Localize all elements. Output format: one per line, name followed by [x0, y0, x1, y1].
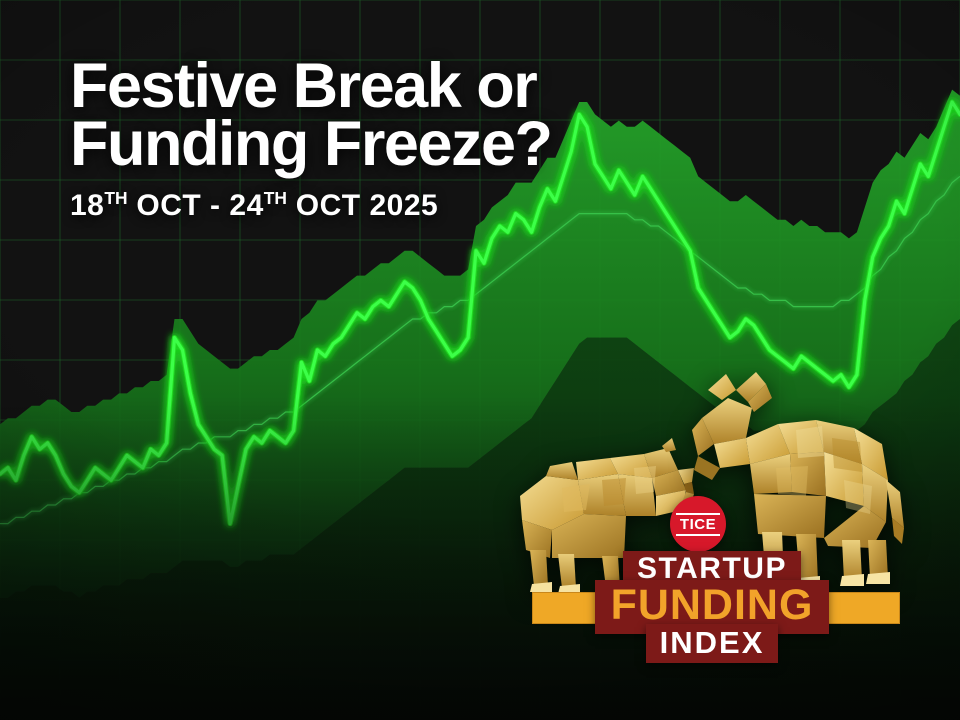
date-end-suffix: TH — [264, 188, 287, 208]
index-plate: INDEX — [646, 624, 779, 663]
date-separator: OCT - — [128, 189, 230, 222]
date-end-day: 24 — [229, 189, 263, 222]
date-range-label: 18TH OCT - 24TH OCT 2025 — [70, 188, 552, 223]
startup-funding-index-badge: TICE STARTUP FUNDING INDEX — [512, 496, 912, 662]
date-end-month: OCT 2025 — [287, 189, 438, 222]
tice-logo[interactable]: TICE — [670, 496, 726, 552]
headline-block: Festive Break or Funding Freeze? 18TH OC… — [70, 58, 552, 223]
poster-canvas: Festive Break or Funding Freeze? 18TH OC… — [0, 0, 960, 720]
badge-index-text: INDEX — [660, 625, 765, 660]
page-title-line-1: Festive Break or — [70, 58, 552, 116]
badge-funding-text: FUNDING — [611, 581, 814, 629]
page-title-line-2: Funding Freeze? — [70, 116, 552, 174]
tice-logo-text: TICE — [676, 513, 720, 536]
date-start-suffix: TH — [104, 188, 127, 208]
date-start-day: 18 — [70, 189, 104, 222]
badge-row-index: INDEX — [512, 624, 912, 662]
